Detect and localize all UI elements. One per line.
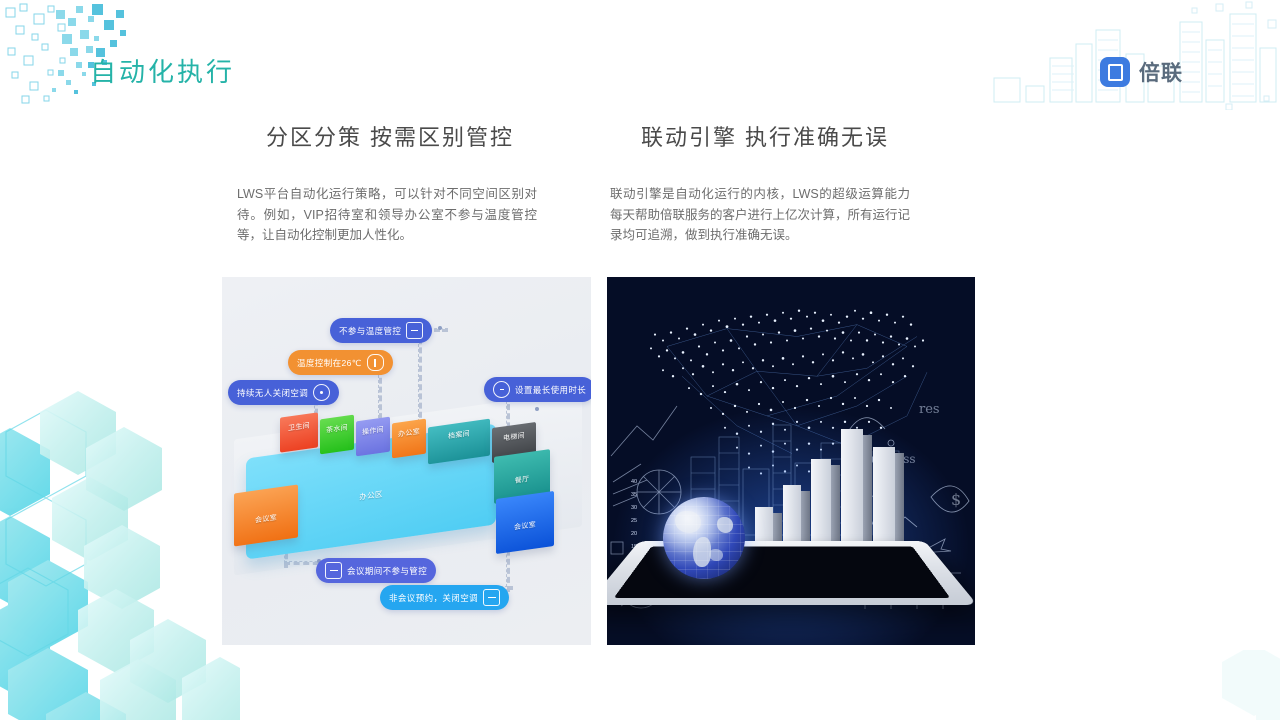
axis-tick: 40 [631, 479, 637, 485]
decorative-skyline-top-right [980, 0, 1280, 110]
floorplan-illustration-panel: 办公区 卫生间 茶水间 操作间 办公室 档案间 电梯间 餐厅 会议室 会议室 [222, 277, 591, 645]
document-icon [406, 322, 423, 339]
pill-text: 非会议预约，关闭空调 [389, 592, 478, 604]
sensor-icon [313, 384, 330, 401]
room-block-private-office: 办公室 [392, 419, 426, 459]
pill-text: 持续无人关闭空调 [237, 387, 308, 399]
room-block-meeting-room-left: 会议室 [234, 485, 298, 547]
connector-line [418, 329, 422, 427]
globe-graphic [663, 497, 745, 579]
timer-icon [493, 381, 510, 398]
room-block-operation: 操作间 [356, 417, 390, 457]
room-label: 操作间 [362, 424, 384, 437]
column-right: 联动引擎 执行准确无误 联动引擎是自动化运行的内核，LWS的超级运算能力每天帮助… [570, 120, 960, 246]
connector-dot [535, 407, 539, 411]
brand-name: 倍联 [1139, 57, 1183, 87]
room-label: 会议室 [255, 512, 277, 525]
column-right-heading: 联动引擎 执行准确无误 [570, 120, 960, 152]
calendar-icon [483, 589, 500, 606]
room-label: 茶水间 [326, 422, 348, 435]
room-label: 会议室 [514, 519, 536, 532]
pill-text: 不参与温度管控 [339, 325, 401, 337]
brand-mark-icon [1100, 57, 1130, 87]
column-right-body: 联动引擎是自动化运行的内核，LWS的超级运算能力每天帮助倍联服务的客户进行上亿次… [610, 184, 910, 246]
room-label: 办公室 [398, 426, 420, 439]
room-label: 电梯间 [503, 430, 525, 443]
svg-text:res: res [919, 402, 940, 417]
data-visual-panel: res business $ 40 35 30 25 20 15 10 [607, 277, 975, 645]
label-pill-max-duration[interactable]: 设置最长使用时长 [484, 377, 591, 402]
page-title: 自动化执行 [90, 52, 235, 89]
column-left-body: LWS平台自动化运行策略，可以针对不同空间区别对待。例如，VIP招待室和领导办公… [237, 184, 537, 246]
meeting-icon [325, 562, 342, 579]
label-pill-no-booking-off[interactable]: 非会议预约，关闭空调 [380, 585, 509, 610]
connector-dot [438, 326, 442, 330]
room-block-pantry: 茶水间 [320, 415, 354, 455]
label-pill-temp-26[interactable]: 温度控制在26℃ [288, 350, 393, 375]
label-pill-meeting-exempt[interactable]: 会议期间不参与管控 [316, 558, 436, 583]
label-pill-no-temp-control[interactable]: 不参与温度管控 [330, 318, 432, 343]
room-block-meeting-room-right: 会议室 [496, 491, 554, 554]
column-left-heading: 分区分策 按需区别管控 [195, 120, 585, 152]
slide-root: 自动化执行 倍联 分区分策 按需区别管控 LWS平台自动化运行策略，可以针对不同… [0, 0, 1280, 720]
decorative-hexagons-bottom-right [1160, 650, 1280, 720]
room-label: 卫生间 [288, 420, 310, 433]
axis-tick: 35 [631, 492, 637, 498]
room-label: 档案间 [448, 428, 470, 441]
thermometer-icon [367, 354, 384, 371]
room-label: 办公区 [359, 488, 382, 502]
pill-text: 设置最长使用时长 [515, 384, 586, 396]
room-block-restroom: 卫生间 [280, 412, 318, 452]
pill-text: 温度控制在26℃ [297, 357, 362, 369]
pill-text: 会议期间不参与管控 [347, 565, 427, 577]
column-left: 分区分策 按需区别管控 LWS平台自动化运行策略，可以针对不同空间区别对待。例如… [195, 120, 585, 246]
brand-logo: 倍联 [1100, 57, 1183, 87]
label-pill-unattended-off[interactable]: 持续无人关闭空调 [228, 380, 339, 405]
svg-text:$: $ [951, 490, 961, 509]
room-label: 餐厅 [515, 474, 530, 486]
decorative-hexagons-bottom-left [0, 300, 240, 720]
